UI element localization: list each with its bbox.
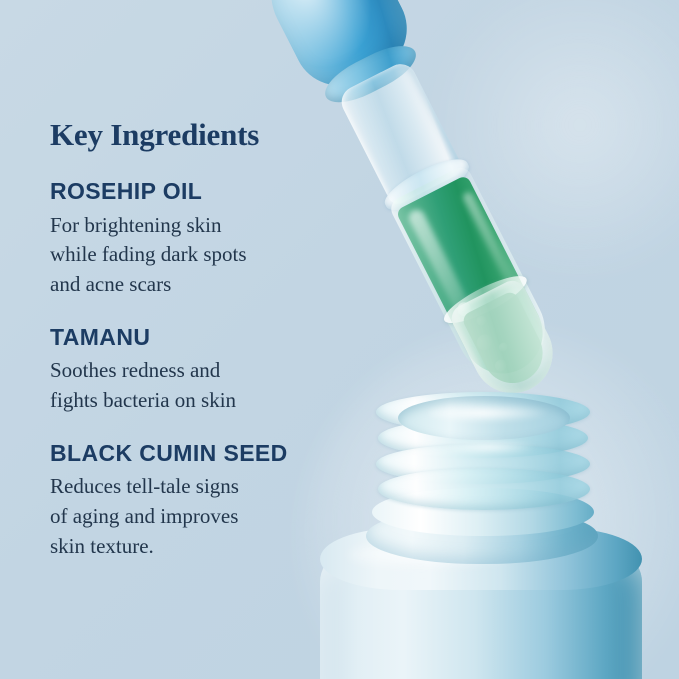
ingredient-description: Reduces tell-tale signs of aging and imp… xyxy=(50,472,350,561)
ingredients-text-column: Key Ingredients ROSEHIP OIL For brighten… xyxy=(50,118,350,562)
neck-thread-ring xyxy=(378,468,590,510)
neck-highlight xyxy=(428,404,548,422)
ingredient-name: TAMANU xyxy=(50,324,350,350)
neck-highlight-secondary xyxy=(440,440,536,454)
ingredient-item-rosehip-oil: ROSEHIP OIL For brightening skin while f… xyxy=(50,178,350,300)
ingredient-description: Soothes redness and fights bacteria on s… xyxy=(50,356,350,416)
ingredient-name: ROSEHIP OIL xyxy=(50,178,350,204)
ingredient-name: BLACK CUMIN SEED xyxy=(50,440,350,466)
page-title: Key Ingredients xyxy=(50,118,350,152)
ingredient-item-black-cumin-seed: BLACK CUMIN SEED Reduces tell-tale signs… xyxy=(50,440,350,562)
ingredient-item-tamanu: TAMANU Soothes redness and fights bacter… xyxy=(50,324,350,416)
product-ingredients-graphic: Key Ingredients ROSEHIP OIL For brighten… xyxy=(0,0,679,679)
ingredient-description: For brightening skin while fading dark s… xyxy=(50,211,350,300)
dropper-tip-liquid xyxy=(460,290,553,394)
